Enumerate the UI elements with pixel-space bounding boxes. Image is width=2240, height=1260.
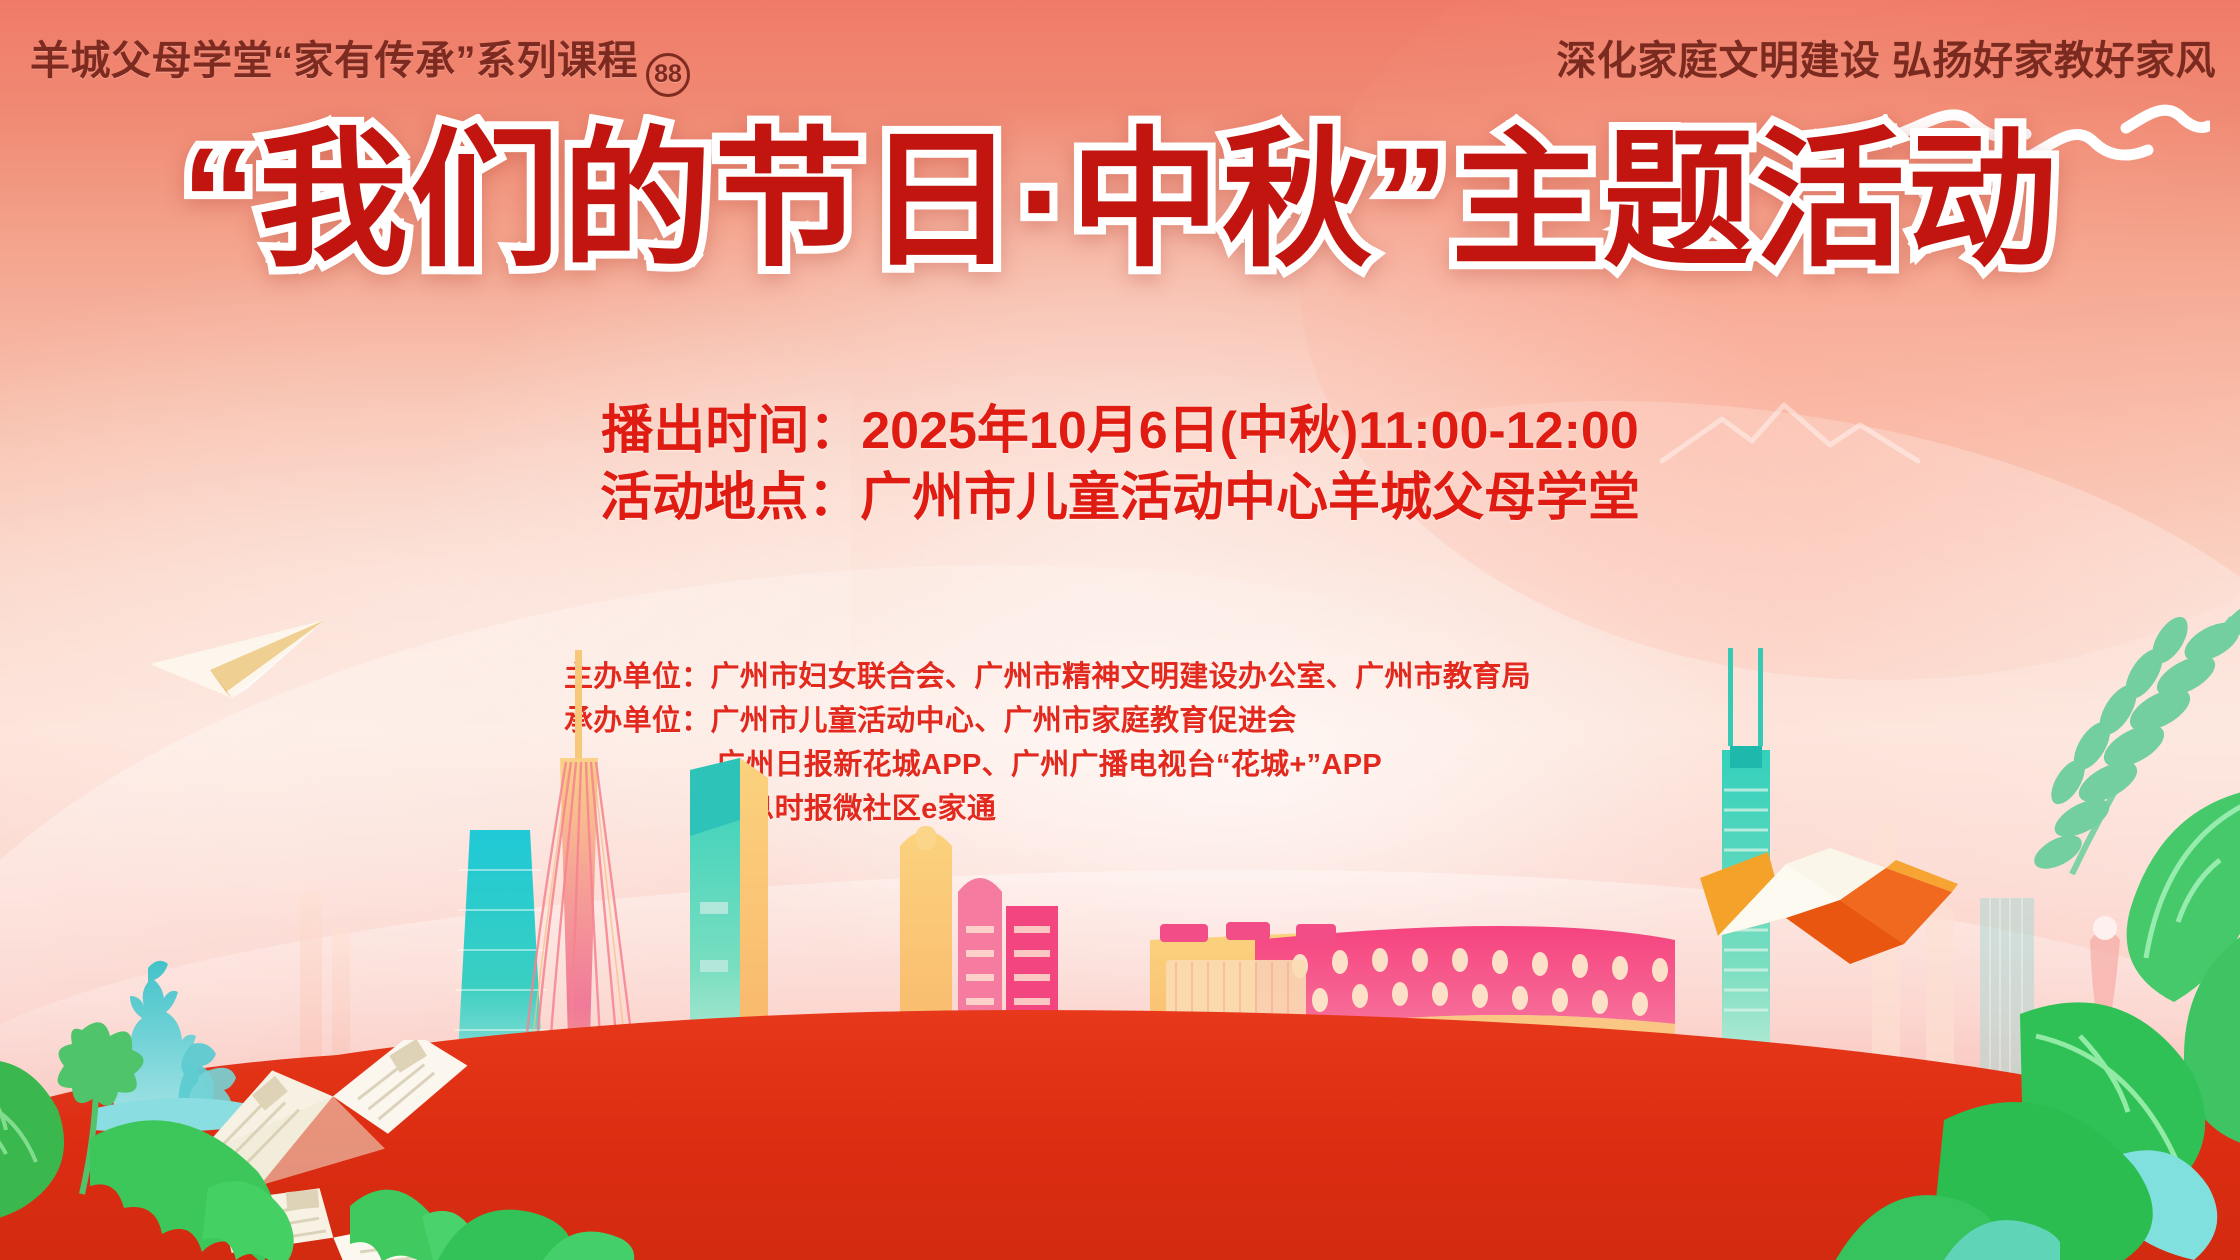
header-right-slogan: 深化家庭文明建设 弘扬好家教好家风 xyxy=(1556,28,2216,86)
episode-badge: 88 xyxy=(646,53,690,97)
series-title-text: 羊城父母学堂“家有传承”系列课程 xyxy=(30,39,638,83)
schedule-block: 播出时间：2025年10月6日(中秋)11:00-12:00 活动地点：广州市儿… xyxy=(0,398,2240,531)
venue-line: 活动地点：广州市儿童活动中心羊城父母学堂 xyxy=(0,465,2240,532)
leaves-bottom-right-icon xyxy=(1820,1120,2060,1260)
header-left: 羊城父母学堂“家有传承”系列课程88 xyxy=(30,28,690,97)
broadcast-time-line: 播出时间：2025年10月6日(中秋)11:00-12:00 xyxy=(0,398,2240,465)
leaves-bottom-left-icon xyxy=(430,1160,650,1260)
page-title: “我们的节日·中秋”主题活动 xyxy=(181,122,2059,278)
title-block: “我们的节日·中秋”主题活动 xyxy=(0,122,2240,278)
poster-canvas: 羊城父母学堂“家有传承”系列课程88 深化家庭文明建设 弘扬好家教好家风 “我们… xyxy=(0,0,2240,1260)
